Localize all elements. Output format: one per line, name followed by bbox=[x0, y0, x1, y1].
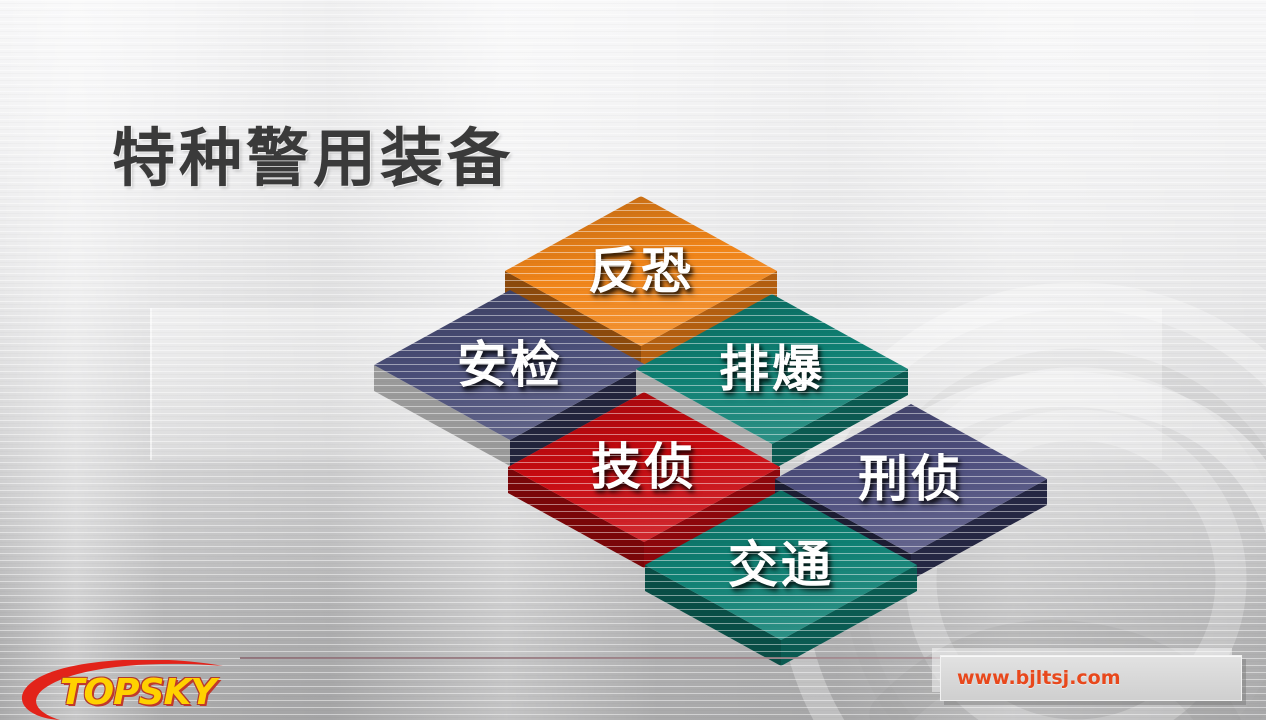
website-box[interactable]: www.bjltsj.com bbox=[940, 655, 1242, 701]
tile-label: 排爆 bbox=[719, 339, 825, 398]
footer-divider bbox=[240, 657, 1040, 659]
tile-label: 刑侦 bbox=[858, 449, 964, 508]
tile-label: 技侦 bbox=[591, 437, 697, 496]
logo-wordmark: TOPSKY bbox=[60, 672, 215, 713]
tile-label: 交通 bbox=[728, 535, 834, 594]
page-title: 特种警用装备 bbox=[112, 108, 514, 199]
tile-label: 安检 bbox=[457, 335, 563, 394]
slide-canvas: 特种警用装备 反恐安检排爆技侦刑侦交通 TOPSKY www.bjltsj.co… bbox=[0, 0, 1266, 720]
tile-label: 反恐 bbox=[588, 241, 694, 300]
topsky-logo: TOPSKY bbox=[8, 660, 238, 720]
website-url[interactable]: www.bjltsj.com bbox=[957, 667, 1121, 689]
